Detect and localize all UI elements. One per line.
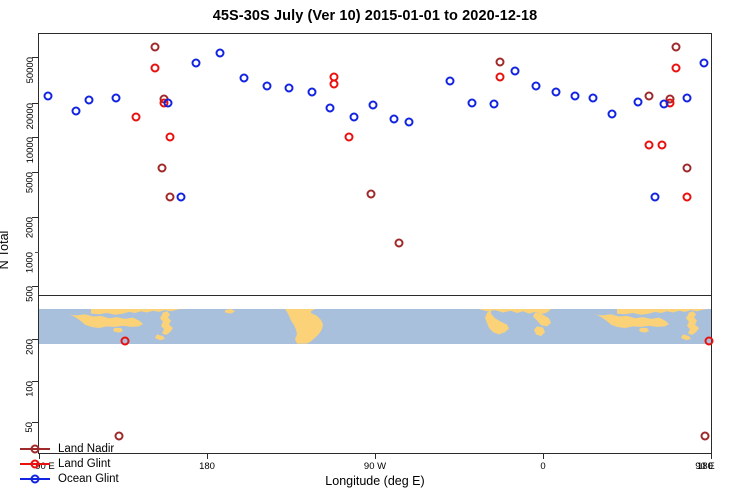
data-point <box>404 118 413 127</box>
data-point <box>150 42 159 51</box>
data-point <box>468 98 477 107</box>
data-point <box>111 94 120 103</box>
data-point <box>705 336 714 345</box>
x-tick <box>711 453 712 459</box>
data-point <box>165 133 174 142</box>
data-point <box>326 104 335 113</box>
legend-marker-icon <box>31 474 40 483</box>
data-point <box>645 141 654 150</box>
x-tick-label: 90 W <box>364 461 386 472</box>
x-tick <box>207 453 208 459</box>
data-point <box>671 42 680 51</box>
legend-label: Ocean Glint <box>52 473 119 485</box>
landmasses <box>69 309 707 344</box>
chart-title: 45S-30S July (Ver 10) 2015-01-01 to 2020… <box>0 8 750 24</box>
data-point <box>608 110 617 119</box>
data-point <box>329 80 338 89</box>
data-point <box>344 133 353 142</box>
y-tick-label: 50 <box>25 422 36 433</box>
data-point <box>552 87 561 96</box>
data-point <box>72 107 81 116</box>
data-point <box>496 57 505 66</box>
y-tick-label: 5000 <box>25 172 36 193</box>
data-point <box>701 431 710 440</box>
data-point <box>307 87 316 96</box>
x-tick-label: 0 <box>540 461 545 472</box>
data-point <box>490 100 499 109</box>
y-tick-label: 20000 <box>25 103 36 129</box>
data-point <box>367 190 376 199</box>
coastline-svg <box>39 309 711 344</box>
legend-symbol <box>18 457 52 471</box>
data-point <box>369 101 378 110</box>
data-point <box>589 94 598 103</box>
data-point <box>645 91 654 100</box>
plot-frame: 50010002000500010000200005000050100200 9… <box>38 33 712 454</box>
data-point <box>176 193 185 202</box>
data-point <box>445 77 454 86</box>
data-point <box>570 91 579 100</box>
legend-symbol <box>18 442 52 456</box>
data-point <box>85 96 94 105</box>
data-point <box>163 98 172 107</box>
chart-root: 45S-30S July (Ver 10) 2015-01-01 to 2020… <box>0 0 750 500</box>
data-point <box>158 164 167 173</box>
data-point <box>651 193 660 202</box>
data-point <box>389 114 398 123</box>
legend-symbol <box>18 472 52 486</box>
data-point <box>699 58 708 67</box>
data-point <box>285 84 294 93</box>
data-point <box>44 91 53 100</box>
legend-marker-icon <box>31 459 40 468</box>
data-point <box>671 64 680 73</box>
legend-label: Land Glint <box>52 458 110 470</box>
y-tick-label: 2000 <box>25 217 36 238</box>
y-axis-title: N Total <box>0 231 11 270</box>
panel-divider <box>39 295 711 296</box>
legend-item[interactable]: Land Nadir <box>18 441 119 456</box>
data-point <box>262 82 271 91</box>
data-point <box>115 431 124 440</box>
y-tick-label: 100 <box>25 381 36 397</box>
data-point <box>658 141 667 150</box>
data-point <box>350 113 359 122</box>
data-point <box>634 97 643 106</box>
y-tick-label: 10000 <box>25 137 36 163</box>
data-point <box>660 100 669 109</box>
data-point <box>165 193 174 202</box>
legend: Land NadirLand GlintOcean Glint <box>18 441 119 486</box>
data-point <box>496 72 505 81</box>
data-point <box>120 336 129 345</box>
data-point <box>682 94 691 103</box>
y-tick-label: 500 <box>25 286 36 302</box>
legend-item[interactable]: Ocean Glint <box>18 471 119 486</box>
data-point <box>216 48 225 57</box>
plot-area: 50010002000500010000200005000050100200 9… <box>39 34 711 453</box>
y-tick-label: 50000 <box>25 57 36 83</box>
data-point <box>150 64 159 73</box>
coastline-map-band <box>39 309 711 344</box>
data-point <box>682 193 691 202</box>
data-point <box>191 58 200 67</box>
y-tick-label: 200 <box>25 339 36 355</box>
y-tick-label: 1000 <box>25 252 36 273</box>
legend-item[interactable]: Land Glint <box>18 456 119 471</box>
x-tick <box>375 453 376 459</box>
x-tick-label: 180 <box>697 461 713 472</box>
data-point <box>511 67 520 76</box>
data-point <box>682 164 691 173</box>
legend-marker-icon <box>31 444 40 453</box>
data-point <box>395 238 404 247</box>
data-point <box>132 113 141 122</box>
x-tick-label: 180 <box>199 461 215 472</box>
data-point <box>531 82 540 91</box>
legend-label: Land Nadir <box>52 443 114 455</box>
x-tick <box>543 453 544 459</box>
data-point <box>240 74 249 83</box>
